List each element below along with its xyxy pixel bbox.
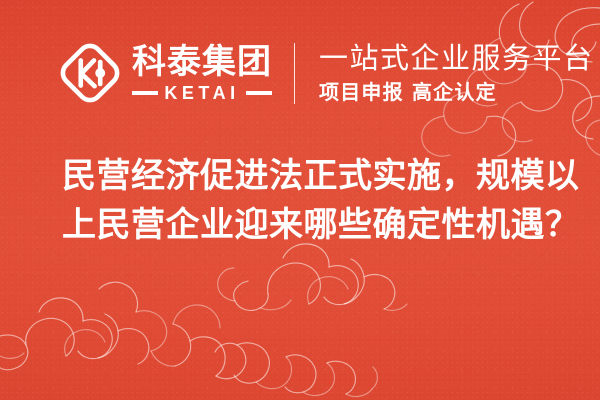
wordmark-rule-right <box>246 91 272 95</box>
wordmark-rule-left <box>132 91 158 95</box>
ketai-diamond-monogram-icon <box>57 40 123 106</box>
brand-logo: 科泰集团 KETAI <box>57 40 272 106</box>
brand-name-cn: 科泰集团 <box>132 45 272 79</box>
tagline-block: 一站式企业服务平台 项目申报 高企认定 <box>319 43 594 104</box>
brand-name-en-row: KETAI <box>132 84 272 102</box>
brand-name-en: KETAI <box>164 84 239 102</box>
tagline-secondary: 项目申报 高企认定 <box>319 81 594 103</box>
headline-line-2: 上民营企业迎来哪些确定性机遇？ <box>62 201 562 250</box>
promo-banner: 科泰集团 KETAI 一站式企业服务平台 项目申报 高企认定 民营经济促进法正式… <box>0 0 600 400</box>
banner-header: 科泰集团 KETAI 一站式企业服务平台 项目申报 高企认定 <box>57 40 594 106</box>
tagline-primary: 一站式企业服务平台 <box>319 43 594 75</box>
headline: 民营经济促进法正式实施，规模以 上民营企业迎来哪些确定性机遇？ <box>62 152 562 250</box>
header-divider <box>294 43 295 104</box>
brand-wordmark: 科泰集团 KETAI <box>132 45 272 102</box>
headline-line-1: 民营经济促进法正式实施，规模以 <box>62 152 562 201</box>
